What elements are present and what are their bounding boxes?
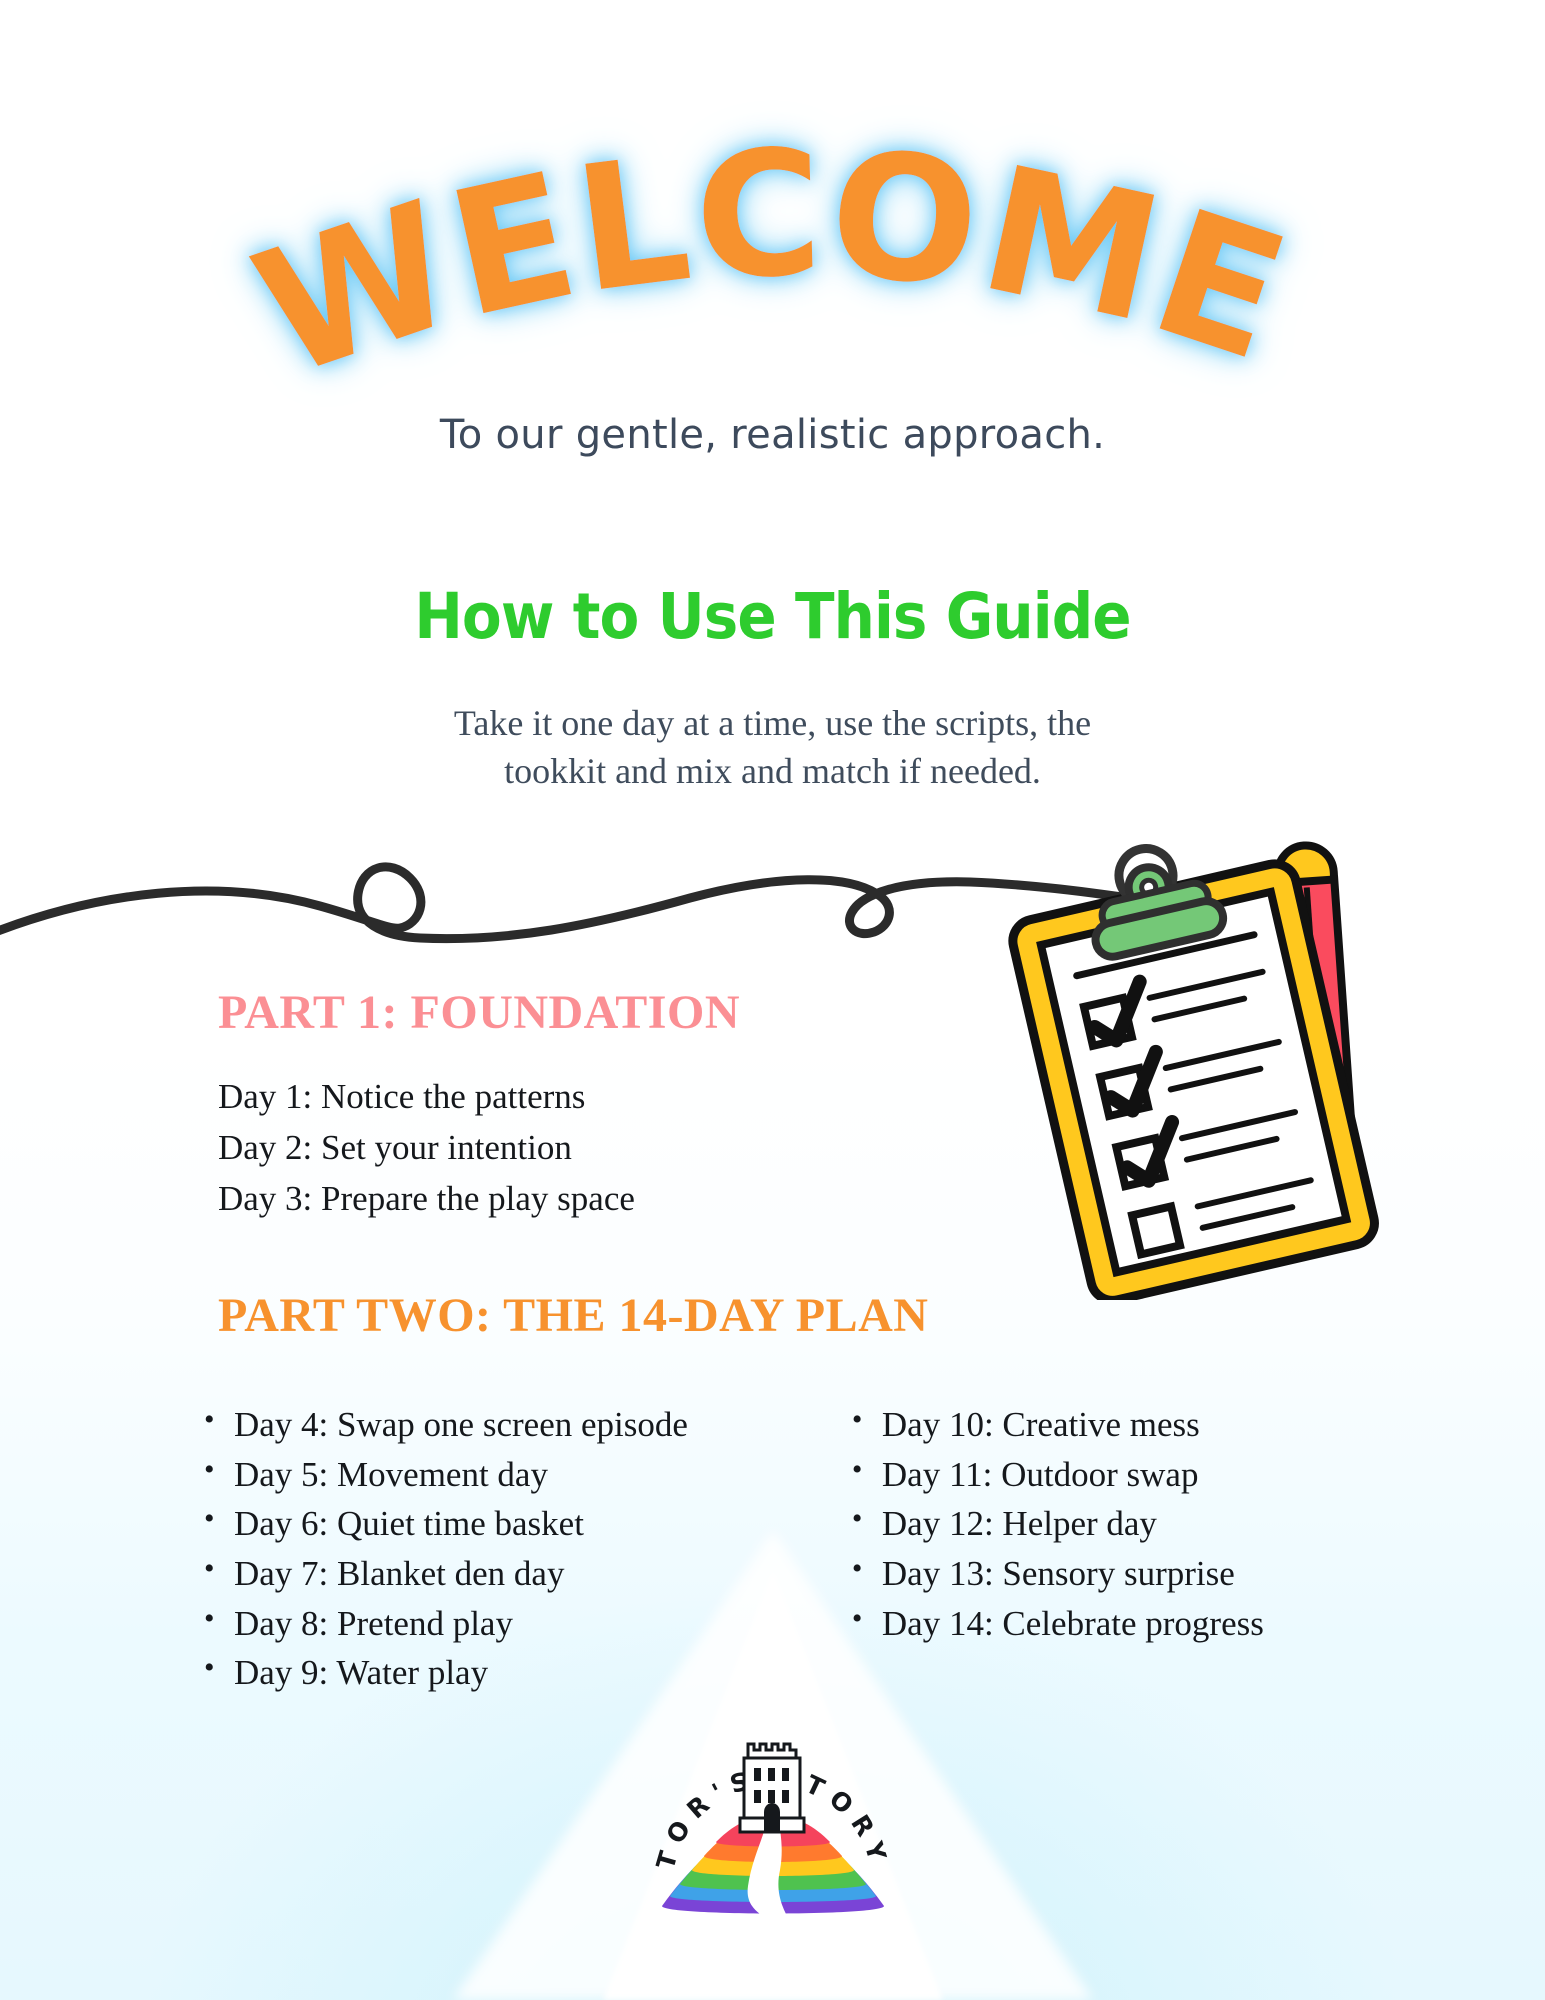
part-one-heading: PART 1: FOUNDATION xyxy=(218,985,740,1040)
guide-intro: Take it one day at a time, use the scrip… xyxy=(0,700,1545,796)
list-item: Day 1: Notice the patterns xyxy=(218,1072,635,1123)
guide-heading: How to Use This Guide xyxy=(62,580,1483,653)
list-item: Day 14: Celebrate progress xyxy=(848,1599,1264,1649)
part-two-right-column: Day 10: Creative mess Day 11: Outdoor sw… xyxy=(848,1400,1264,1698)
list-item: Day 8: Pretend play xyxy=(200,1599,688,1649)
list-item: Day 10: Creative mess xyxy=(848,1400,1264,1450)
part-two-columns: Day 4: Swap one screen episode Day 5: Mo… xyxy=(200,1400,1380,1698)
list-item: Day 12: Helper day xyxy=(848,1499,1264,1549)
guide-intro-line-1: Take it one day at a time, use the scrip… xyxy=(0,700,1545,748)
clipboard-illustration xyxy=(990,820,1500,1300)
welcome-title: WELCOME xyxy=(0,92,1545,392)
list-item: Day 13: Sensory surprise xyxy=(848,1549,1264,1599)
list-item: Day 6: Quiet time basket xyxy=(200,1499,688,1549)
tors-story-logo: TOR'S STORY xyxy=(640,1688,905,1953)
part-two-heading: PART TWO: THE 14-DAY PLAN xyxy=(218,1288,928,1343)
welcome-subtitle: To our gentle, realistic approach. xyxy=(0,412,1545,458)
list-item: Day 2: Set your intention xyxy=(218,1123,635,1174)
list-item: Day 3: Prepare the play space xyxy=(218,1174,635,1225)
part-two-left-column: Day 4: Swap one screen episode Day 5: Mo… xyxy=(200,1400,688,1698)
welcome-title-text: WELCOME xyxy=(233,112,1310,416)
list-item: Day 4: Swap one screen episode xyxy=(200,1400,688,1450)
part-one-list: Day 1: Notice the patterns Day 2: Set yo… xyxy=(218,1072,635,1224)
list-item: Day 11: Outdoor swap xyxy=(848,1450,1264,1500)
list-item: Day 9: Water play xyxy=(200,1648,688,1698)
list-item: Day 7: Blanket den day xyxy=(200,1549,688,1599)
list-item: Day 5: Movement day xyxy=(200,1450,688,1500)
tower-door-icon xyxy=(764,1803,780,1832)
guide-intro-line-2: tookkit and mix and match if needed. xyxy=(0,748,1545,796)
